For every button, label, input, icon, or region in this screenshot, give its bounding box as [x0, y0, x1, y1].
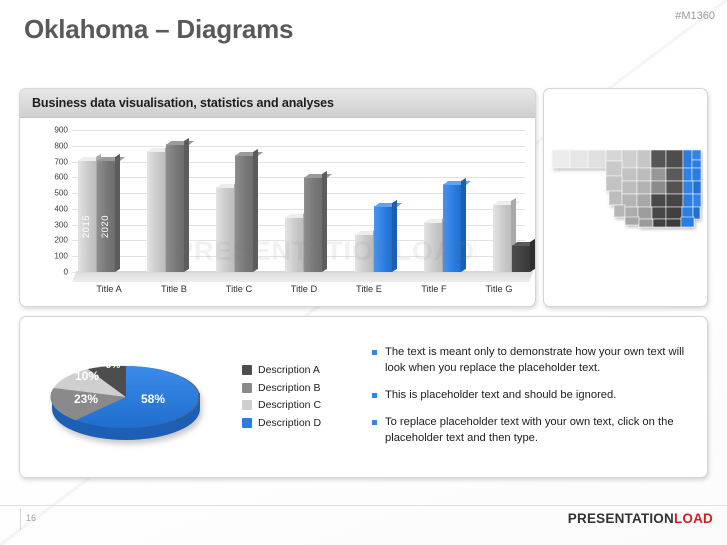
bar-top-face [235, 152, 263, 156]
bar-side-face [392, 200, 397, 272]
bar-series-label: 2015 [81, 215, 93, 238]
x-axis-tick-label: Title D [273, 284, 335, 294]
bullet-text: This is placeholder text and should be i… [385, 388, 616, 404]
x-axis-tick-label: Title F [403, 284, 465, 294]
pie-and-text-panel[interactable]: 58% 23% 10% 9% Description ADescription … [19, 316, 708, 478]
bullet-marker-icon [372, 393, 377, 398]
page-number: 16 [26, 513, 36, 523]
bar-side-face [115, 154, 120, 272]
document-id: #M1360 [675, 10, 715, 22]
bar[interactable]: 2020 [97, 160, 115, 272]
legend-swatch [242, 365, 252, 375]
bar[interactable] [493, 204, 511, 272]
pie-value-d: 58% [141, 392, 165, 406]
x-axis-tick-label: Title G [468, 284, 530, 294]
y-axis-tick-label: 0 [42, 268, 68, 277]
footer-tick [20, 508, 21, 530]
bar-side-face [184, 138, 189, 272]
pie-value-a: 9% [106, 360, 121, 371]
bullet-marker-icon [372, 350, 377, 355]
x-axis-tick-label: Title B [143, 284, 205, 294]
bullet-item[interactable]: The text is meant only to demonstrate ho… [372, 345, 692, 377]
page-title: Oklahoma – Diagrams [24, 14, 293, 45]
bullet-text: To replace placeholder text with your ow… [385, 415, 692, 447]
bar[interactable] [443, 184, 461, 272]
legend-swatch [242, 418, 252, 428]
pie-legend: Description ADescription BDescription CD… [242, 364, 321, 434]
bar-top-face [97, 157, 125, 161]
slide: Oklahoma – Diagrams #M1360 Business data… [0, 0, 727, 545]
bar-group [216, 130, 253, 272]
bar-group [493, 130, 530, 272]
bar-series-label: 2020 [100, 215, 112, 238]
bar[interactable] [147, 151, 165, 272]
bar[interactable] [235, 155, 253, 272]
oklahoma-map-panel[interactable] [543, 88, 708, 307]
bullet-item[interactable]: To replace placeholder text with your ow… [372, 415, 692, 447]
y-axis-tick-label: 900 [42, 126, 68, 135]
y-axis-tick-label: 800 [42, 141, 68, 150]
bar-side-face [530, 239, 535, 272]
bar-chart-panel-title: Business data visualisation, statistics … [20, 96, 334, 110]
pie-value-b: 23% [74, 392, 98, 406]
bar[interactable] [166, 144, 184, 272]
legend-item[interactable]: Description B [242, 382, 321, 394]
bar-chart-floor [72, 271, 533, 282]
bar[interactable] [285, 217, 303, 272]
legend-label: Description D [258, 417, 321, 429]
brand-second: LOAD [674, 511, 713, 526]
y-axis-tick-label: 100 [42, 252, 68, 261]
bar-chart-x-axis: Title ATitle BTitle CTitle DTitle ETitle… [78, 284, 530, 294]
bar-group: 20152020 [78, 130, 115, 272]
pie-value-c: 10% [75, 369, 99, 383]
y-axis-tick-label: 200 [42, 236, 68, 245]
y-axis-tick-label: 400 [42, 204, 68, 213]
bar-top-face [304, 174, 332, 178]
oklahoma-map-icon[interactable] [550, 137, 703, 247]
brand-logo: PRESENTATIONLOAD [568, 511, 713, 526]
bar-group [285, 130, 322, 272]
bar[interactable] [512, 245, 530, 272]
y-axis-tick-label: 500 [42, 189, 68, 198]
bar-side-face [322, 171, 327, 272]
footer-divider [0, 505, 727, 506]
legend-swatch [242, 400, 252, 410]
bullet-item[interactable]: This is placeholder text and should be i… [372, 388, 692, 404]
x-axis-tick-label: Title E [338, 284, 400, 294]
bar-side-face [461, 178, 466, 272]
bar[interactable] [374, 206, 392, 272]
legend-item[interactable]: Description A [242, 364, 321, 376]
bar[interactable] [355, 234, 373, 272]
bar-chart-panel[interactable]: Business data visualisation, statistics … [19, 88, 536, 307]
bar-top-face [493, 201, 521, 205]
legend-item[interactable]: Description C [242, 399, 321, 411]
brand-first: PRESENTATION [568, 511, 674, 526]
bullet-text: The text is meant only to demonstrate ho… [385, 345, 692, 377]
legend-label: Description B [258, 382, 320, 394]
bullet-marker-icon [372, 420, 377, 425]
bar-chart-body: 9008007006005004003002001000 20152020 Ti… [20, 118, 535, 307]
bar-top-face [443, 181, 471, 185]
legend-label: Description C [258, 399, 321, 411]
legend-swatch [242, 383, 252, 393]
x-axis-tick-label: Title C [208, 284, 270, 294]
legend-item[interactable]: Description D [242, 417, 321, 429]
bar[interactable] [304, 177, 322, 272]
bar[interactable] [424, 222, 442, 272]
bullet-list: The text is meant only to demonstrate ho… [372, 345, 692, 458]
bar-top-face [166, 141, 194, 145]
x-axis-tick-label: Title A [78, 284, 140, 294]
bar-chart-panel-header: Business data visualisation, statistics … [20, 89, 535, 118]
pie-chart-svg[interactable]: 58% 23% 10% 9% [40, 335, 220, 460]
y-axis-tick-label: 600 [42, 173, 68, 182]
bar[interactable]: 2015 [78, 160, 96, 272]
bar-side-face [253, 149, 258, 272]
bar-group [355, 130, 392, 272]
bar[interactable] [216, 187, 234, 272]
legend-label: Description A [258, 364, 320, 376]
bar-group [424, 130, 461, 272]
bar-group [147, 130, 184, 272]
y-axis-tick-label: 300 [42, 220, 68, 229]
bar-chart-bars: 20152020 [78, 130, 530, 272]
y-axis-tick-label: 700 [42, 157, 68, 166]
bar-top-face [374, 203, 402, 207]
bar-chart-plot: 9008007006005004003002001000 20152020 Ti… [20, 118, 536, 307]
pie-chart[interactable]: 58% 23% 10% 9% [40, 335, 220, 460]
